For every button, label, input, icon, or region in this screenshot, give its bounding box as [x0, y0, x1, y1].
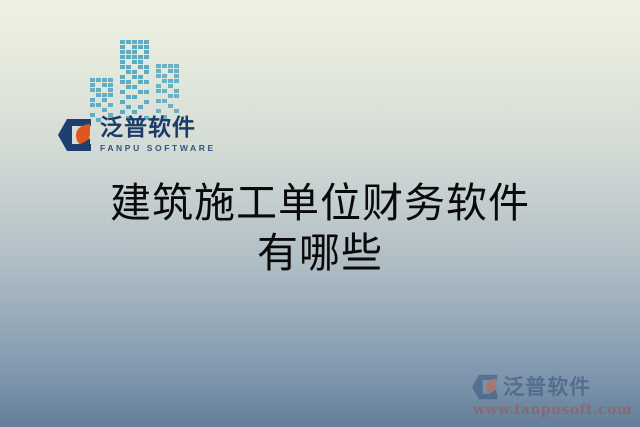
fanpu-hexagon-logo-icon	[57, 118, 93, 152]
brand-lockup: 泛普软件 FANPU SOFTWARE	[57, 117, 216, 153]
brand-name-cn: 泛普软件	[100, 117, 216, 140]
watermark-brand-row: 泛普软件	[471, 374, 591, 400]
page-title: 建筑施工单位财务软件 有哪些	[0, 178, 640, 278]
pixel-building-skyline-icon	[84, 28, 204, 128]
watermark-brand-name: 泛普软件	[503, 377, 591, 398]
watermark: 泛普软件 www.fanpusoft.com	[471, 374, 632, 418]
brand-text-block: 泛普软件 FANPU SOFTWARE	[100, 117, 216, 153]
fanpu-hexagon-logo-watermark-icon	[471, 374, 499, 400]
watermark-url: www.fanpusoft.com	[473, 402, 632, 418]
brand-name-en: FANPU SOFTWARE	[100, 144, 216, 153]
page-title-line-1: 建筑施工单位财务软件	[0, 178, 640, 228]
page-title-line-2: 有哪些	[0, 228, 640, 278]
poster-canvas: 泛普软件 FANPU SOFTWARE 建筑施工单位财务软件 有哪些 泛普软件 …	[0, 0, 640, 427]
